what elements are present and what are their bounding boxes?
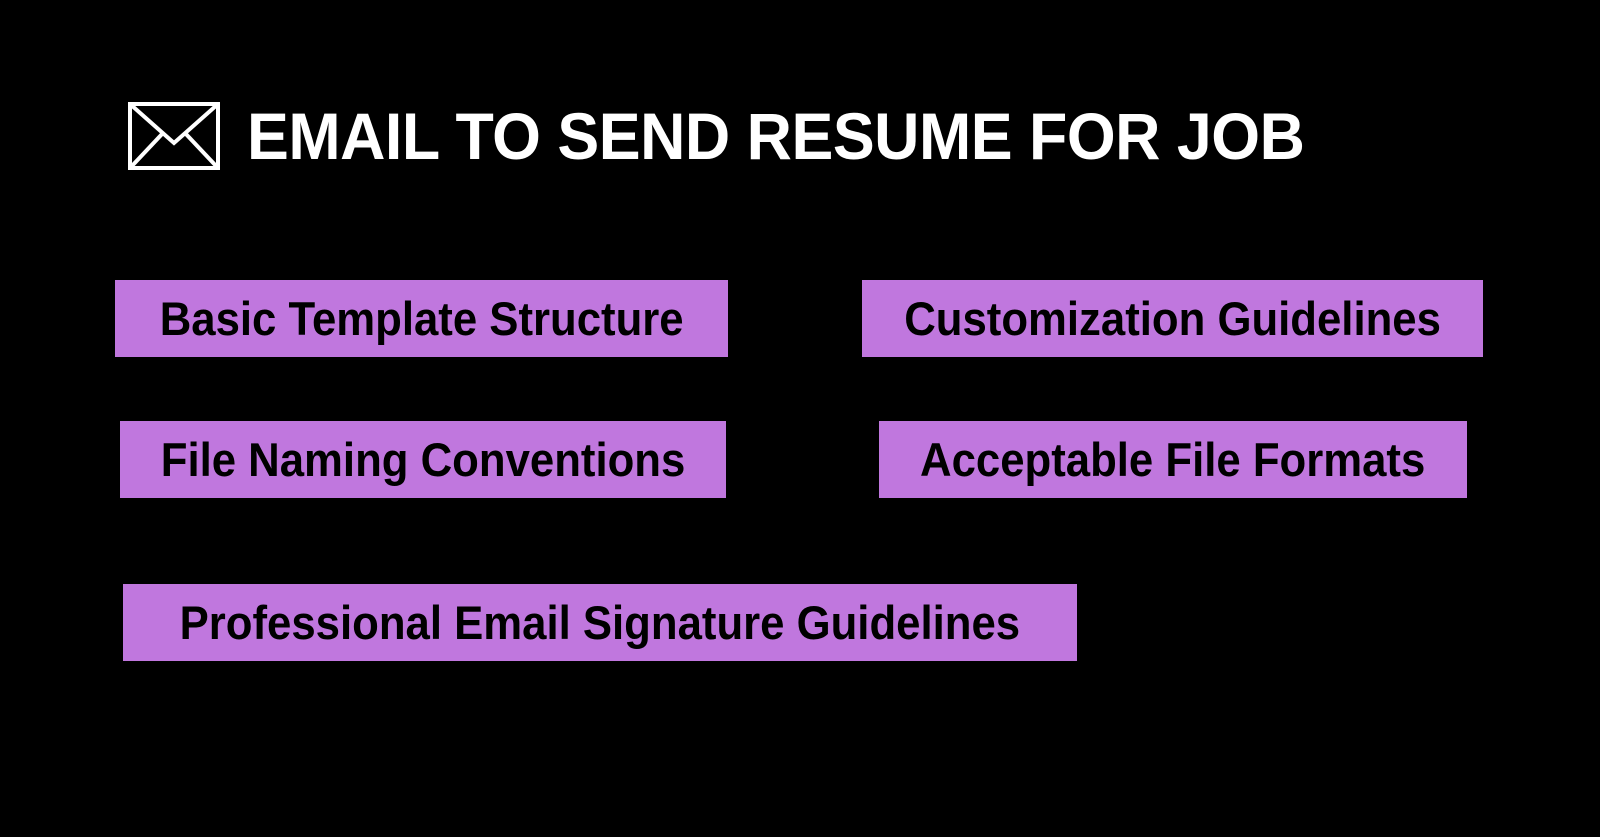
topic-block-professional-email-signature-guidelines[interactable]: Professional Email Signature Guidelines [123, 584, 1077, 661]
envelope-icon [127, 101, 221, 171]
slide-header: EMAIL TO SEND RESUME FOR JOB [127, 101, 1360, 171]
page-title: EMAIL TO SEND RESUME FOR JOB [247, 103, 1304, 169]
topic-block-acceptable-file-formats[interactable]: Acceptable File Formats [879, 421, 1467, 498]
topic-label: Acceptable File Formats [920, 436, 1425, 483]
presentation-slide: EMAIL TO SEND RESUME FOR JOB Basic Templ… [0, 0, 1600, 837]
topic-label: Basic Template Structure [160, 295, 684, 342]
topic-label: Customization Guidelines [904, 295, 1441, 342]
topic-block-basic-template-structure[interactable]: Basic Template Structure [115, 280, 728, 357]
topic-label: File Naming Conventions [161, 436, 686, 483]
topic-label: Professional Email Signature Guidelines [180, 599, 1020, 646]
topic-block-file-naming-conventions[interactable]: File Naming Conventions [120, 421, 726, 498]
topic-block-customization-guidelines[interactable]: Customization Guidelines [862, 280, 1483, 357]
